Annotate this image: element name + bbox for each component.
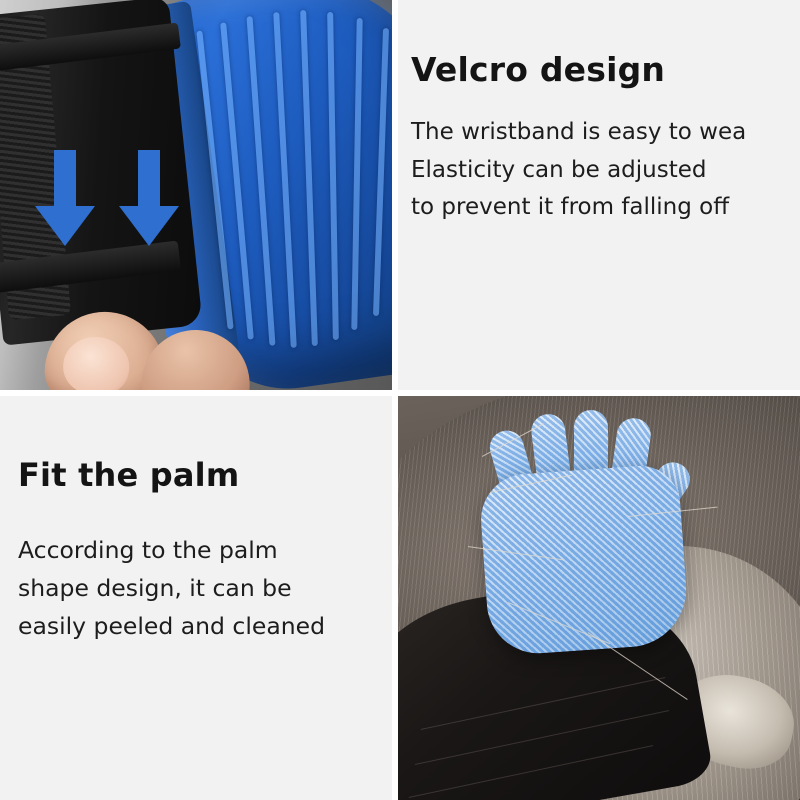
photo-velcro-strap-closeup xyxy=(0,0,392,390)
velcro-design-body-line-1: The wristband is easy to wea xyxy=(411,114,800,151)
velcro-design-text-block: Velcro design The wristband is easy to w… xyxy=(398,0,800,390)
velcro-design-headline: Velcro design xyxy=(411,52,800,88)
panel-fit-the-palm: Fit the palm According to the palm shape… xyxy=(0,396,392,800)
photo-grooming-background xyxy=(398,396,800,800)
velcro-design-body-line-3: to prevent it from falling off xyxy=(411,189,800,226)
fit-the-palm-body-line-1: According to the palm xyxy=(18,531,392,569)
glove-palm xyxy=(478,463,690,657)
thumb-nail xyxy=(60,334,132,390)
panel-velcro-design: Velcro design The wristband is easy to w… xyxy=(398,0,800,390)
velcro-design-body-line-2: Elasticity can be adjusted xyxy=(411,152,800,189)
fit-the-palm-body-line-2: shape design, it can be xyxy=(18,569,392,607)
product-feature-collage: Velcro design The wristband is easy to w… xyxy=(0,0,800,800)
horizontal-divider xyxy=(0,390,800,396)
vertical-divider xyxy=(392,0,398,800)
fit-the-palm-headline: Fit the palm xyxy=(18,458,392,493)
fit-the-palm-body-line-3: easily peeled and cleaned xyxy=(18,607,392,645)
photo-velcro-strap-background xyxy=(0,0,392,390)
photo-glove-grooming-cat xyxy=(398,396,800,800)
fit-the-palm-text-block: Fit the palm According to the palm shape… xyxy=(0,396,392,800)
